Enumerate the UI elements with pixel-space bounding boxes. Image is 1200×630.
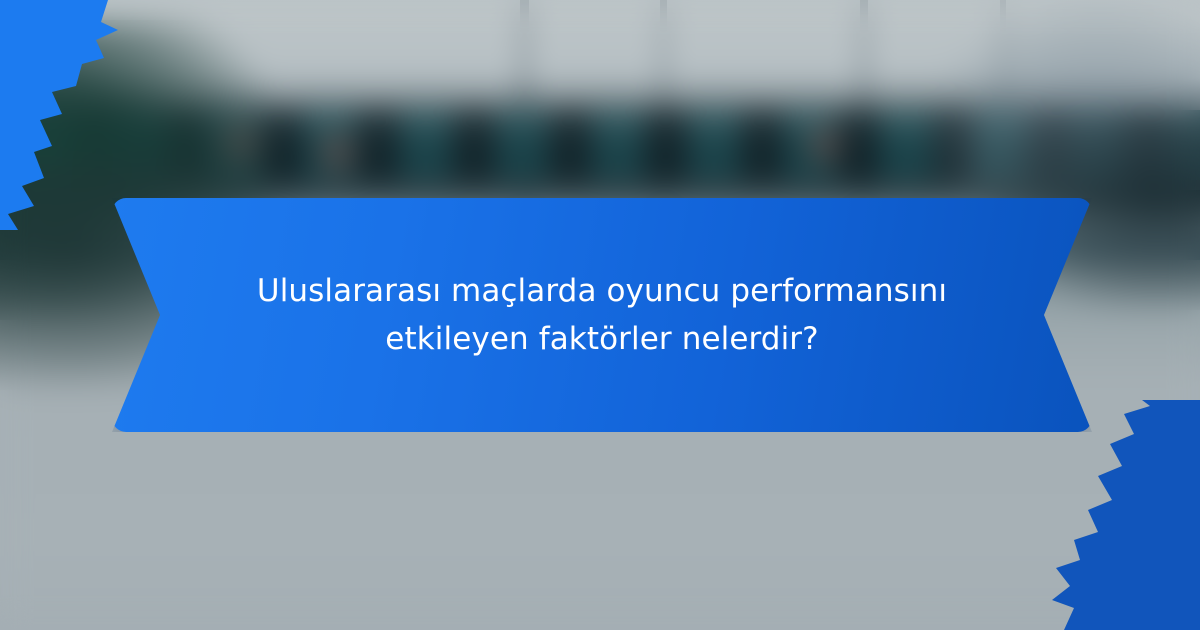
question-ribbon: Uluslararası maçlarda oyuncu performansı… (112, 198, 1092, 432)
ribbon-headline: Uluslararası maçlarda oyuncu performansı… (132, 267, 1072, 364)
social-card: Uluslararası maçlarda oyuncu performansı… (0, 0, 1200, 630)
